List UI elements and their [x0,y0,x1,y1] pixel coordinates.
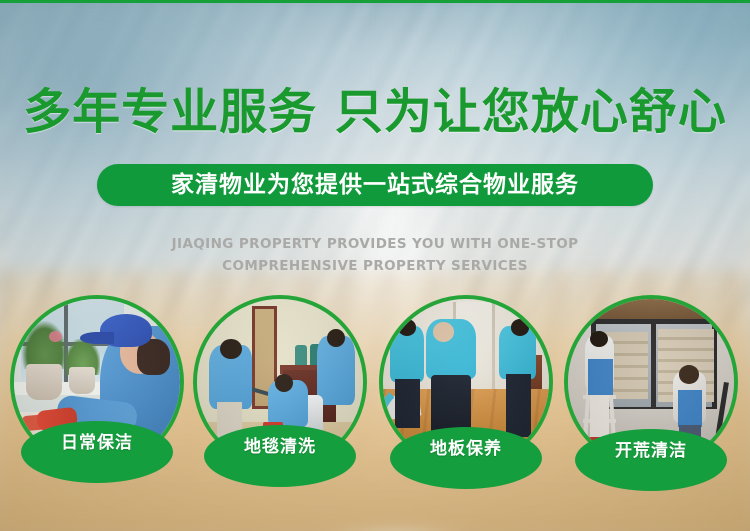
service-label-text: 开荒清洁 [615,429,687,460]
service-label-text: 日常保洁 [61,421,133,452]
subtitle-line-1: JIAQING PROPERTY PROVIDES YOU WITH ONE-S… [172,236,579,252]
promotional-banner: 多年专业服务 只为让您放心舒心 家清物业为您提供一站式综合物业服务 JIAQIN… [0,0,750,531]
page-title: 多年专业服务 只为让您放心舒心 [0,84,750,140]
top-accent-rule [0,0,750,3]
service-label-pill: 日常保洁 [21,421,173,483]
slogan-pill: 家清物业为您提供一站式综合物业服务 [97,164,653,206]
service-item-floor-maintenance[interactable]: 地板保养 [379,295,553,469]
service-circle-row: 日常保洁 [0,295,750,495]
subtitle-line-2: COMPREHENSIVE PROPERTY SERVICES [0,255,750,277]
slogan-pill-label: 家清物业为您提供一站式综合物业服务 [171,164,579,206]
service-item-carpet-cleaning[interactable]: 地毯清洗 [193,295,367,469]
service-label-text: 地板保养 [430,427,502,458]
service-label-pill: 地毯清洗 [204,425,356,487]
service-label-text: 地毯清洗 [244,425,316,456]
service-item-daily-cleaning[interactable]: 日常保洁 [10,295,184,469]
service-label-pill: 地板保养 [390,427,542,489]
subtitle-english: JIAQING PROPERTY PROVIDES YOU WITH ONE-S… [0,233,750,277]
service-label-pill: 开荒清洁 [575,429,727,491]
service-item-rough-cleaning[interactable]: 开荒清洁 [564,295,738,469]
